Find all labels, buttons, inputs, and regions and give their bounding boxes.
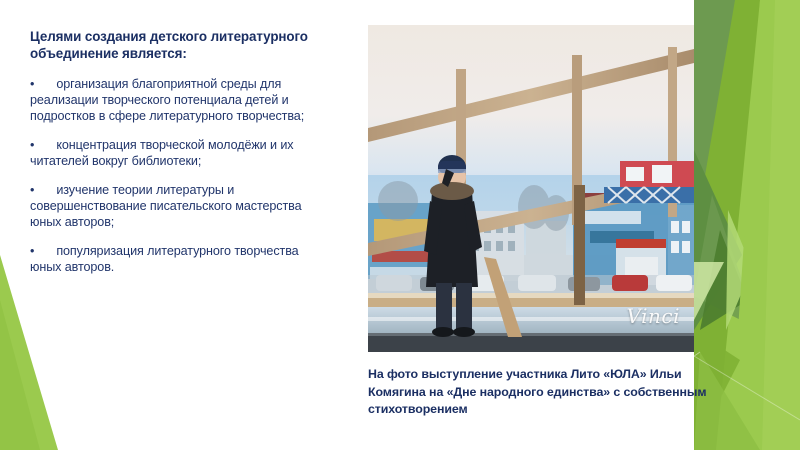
presentation-slide: Целями создания детского литературного о… bbox=[0, 0, 800, 450]
green-shape-e bbox=[700, 230, 748, 330]
green-shape-i bbox=[762, 0, 800, 450]
green-shape-f bbox=[694, 262, 724, 320]
photo-watermark: Vinci bbox=[627, 304, 680, 328]
bullet-marker: • bbox=[30, 138, 34, 152]
bullet-text: организация благоприятной среды для реал… bbox=[30, 77, 304, 123]
bullet-text: концентрация творческой молодёжи и их чи… bbox=[30, 138, 293, 168]
bullet-item: •организация благоприятной среды для реа… bbox=[30, 77, 312, 125]
bullet-text: популяризация литературного творчества ю… bbox=[30, 244, 299, 274]
green-shape-b bbox=[694, 0, 735, 240]
page-title: Целями создания детского литературного о… bbox=[30, 28, 312, 63]
photo-caption: На фото выступление участника Лито «ЮЛА»… bbox=[368, 366, 708, 419]
green-shape-g bbox=[726, 210, 752, 330]
green-shape-h bbox=[730, 0, 800, 450]
bullet-item: •популяризация литературного творчества … bbox=[30, 244, 312, 276]
hairline-3 bbox=[694, 356, 800, 420]
green-shape-c bbox=[694, 150, 742, 330]
green-shape-d bbox=[694, 195, 760, 330]
bullet-text: изучение теории литературы и совершенств… bbox=[30, 183, 302, 229]
bullet-item: •изучение теории литературы и совершенст… bbox=[30, 183, 312, 231]
bullet-item: •концентрация творческой молодёжи и их ч… bbox=[30, 138, 312, 170]
bullet-marker: • bbox=[30, 77, 34, 91]
green-panel-right bbox=[694, 0, 800, 450]
bullet-marker: • bbox=[30, 244, 34, 258]
photo-illustration bbox=[368, 25, 694, 352]
green-wedge-left-shade bbox=[0, 300, 40, 450]
bullet-marker: • bbox=[30, 183, 34, 197]
text-column: Целями создания детского литературного о… bbox=[30, 28, 312, 289]
slide-photo: Vinci bbox=[368, 25, 694, 352]
